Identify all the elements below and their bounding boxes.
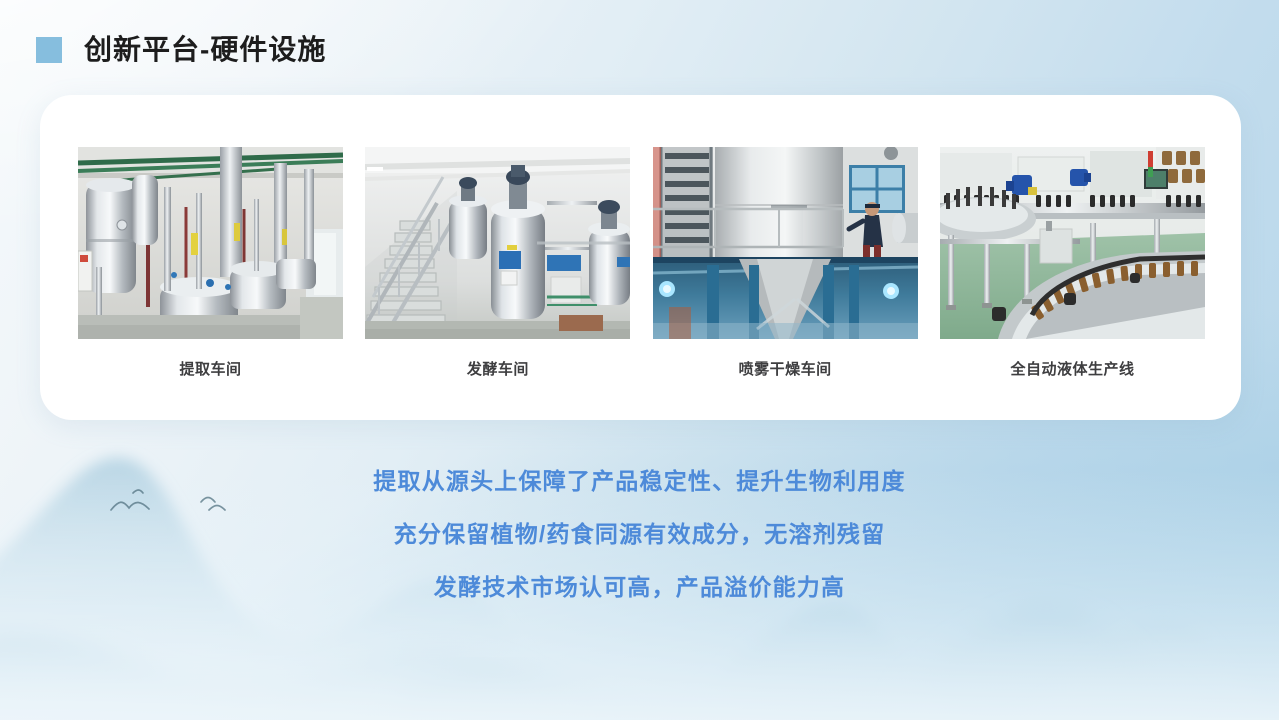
page-header: 创新平台-硬件设施 <box>36 36 326 64</box>
page-title: 创新平台-硬件设施 <box>84 36 326 64</box>
statement-line: 充分保留植物/药食同源有效成分，无溶剂残留 <box>0 523 1279 546</box>
gallery-item-caption: 喷雾干燥车间 <box>653 358 918 379</box>
square-bullet-icon <box>36 37 62 63</box>
slide-canvas: 创新平台-硬件设施 <box>0 0 1279 720</box>
photo-liquid-production-line <box>940 147 1205 339</box>
hardware-facilities-card: 提取车间 <box>40 95 1241 420</box>
facility-gallery: 提取车间 <box>78 147 1205 379</box>
photo-spray-drying-workshop <box>653 147 918 339</box>
statement-line: 发酵技术市场认可高，产品溢价能力高 <box>0 576 1279 599</box>
gallery-item[interactable]: 全自动液体生产线 <box>940 147 1205 379</box>
gallery-item-caption: 提取车间 <box>78 358 343 379</box>
gallery-item[interactable]: 喷雾干燥车间 <box>653 147 918 379</box>
photo-extraction-workshop <box>78 147 343 339</box>
gallery-item[interactable]: 提取车间 <box>78 147 343 379</box>
photo-fermentation-workshop <box>365 147 630 339</box>
statement-line: 提取从源头上保障了产品稳定性、提升生物利用度 <box>0 470 1279 493</box>
gallery-item[interactable]: 发酵车间 <box>365 147 630 379</box>
gallery-item-caption: 全自动液体生产线 <box>940 358 1205 379</box>
gallery-item-caption: 发酵车间 <box>365 358 630 379</box>
statements-block: 提取从源头上保障了产品稳定性、提升生物利用度 充分保留植物/药食同源有效成分，无… <box>0 470 1279 599</box>
